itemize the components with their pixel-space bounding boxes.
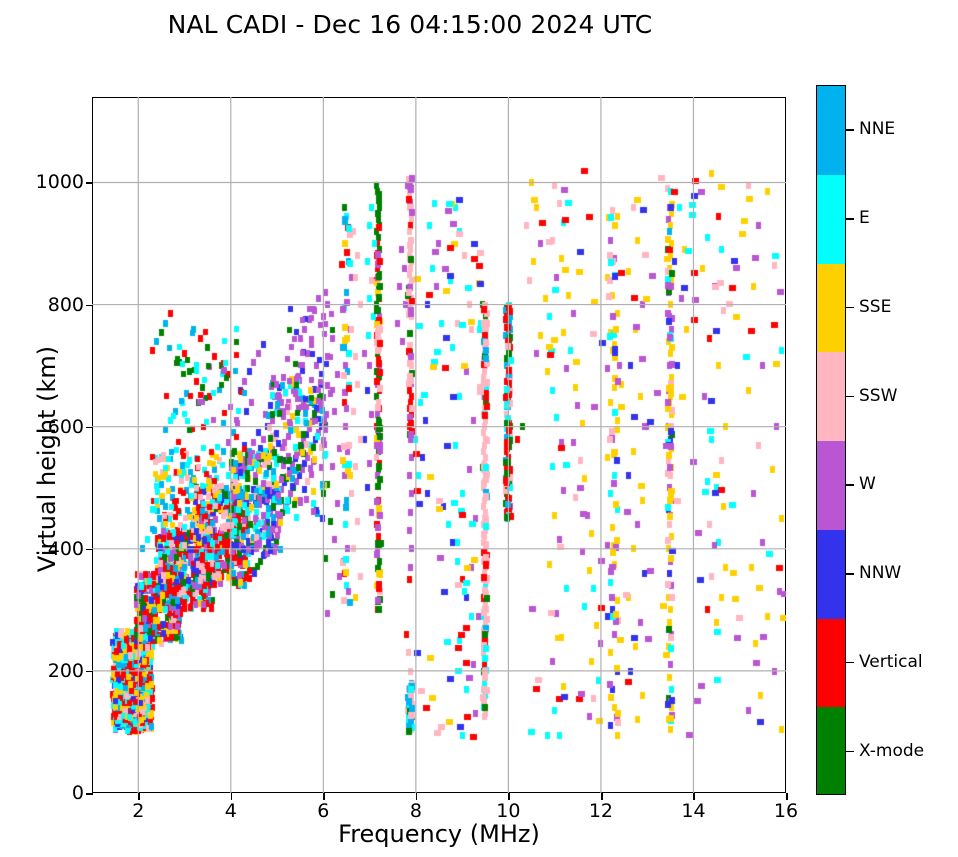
page-title: NAL CADI - Dec 16 04:15:00 2024 UTC (0, 10, 820, 39)
x-tick-mark (138, 793, 140, 800)
y-tick-mark (86, 793, 93, 795)
colorbar-tick-mark (846, 129, 854, 131)
x-tick-label-16: 16 (756, 800, 816, 822)
x-tick-label-4: 4 (201, 800, 261, 822)
colorbar-band-sse (817, 264, 845, 353)
x-tick-label-10: 10 (478, 800, 538, 822)
colorbar-tick-mark (846, 396, 854, 398)
colorbar-tick-mark (846, 218, 854, 220)
x-tick-label-2: 2 (108, 800, 168, 822)
x-tick-mark (693, 793, 695, 800)
x-tick-mark (323, 793, 325, 800)
ionogram-figure: NAL CADI - Dec 16 04:15:00 2024 UTC 0200… (0, 0, 958, 857)
colorbar-band-x-mode (817, 707, 845, 795)
colorbar-band-e (817, 175, 845, 264)
colorbar-band-w (817, 441, 845, 530)
x-tick-label-6: 6 (293, 800, 353, 822)
x-tick-mark (786, 793, 788, 800)
y-tick-label-1000: 1000 (28, 171, 84, 193)
colorbar-label-vertical: Vertical (859, 652, 923, 672)
scatter-data-layer (92, 97, 786, 793)
colorbar-label-x-mode: X-mode (859, 741, 924, 761)
colorbar-tick-mark (846, 662, 854, 664)
x-tick-label-8: 8 (386, 800, 446, 822)
colorbar-tick-labels: NNEESSESSWWNNWVerticalX-mode (846, 85, 956, 795)
colorbar-tick-mark (846, 307, 854, 309)
x-tick-mark (231, 793, 233, 800)
colorbar-tick-mark (846, 484, 854, 486)
colorbar-tick-mark (846, 751, 854, 753)
x-tick-mark (601, 793, 603, 800)
colorbar-label-sse: SSE (859, 297, 891, 317)
y-axis-label: Virtual height (km) (33, 219, 61, 699)
colorbar-band-ssw (817, 352, 845, 441)
y-tick-mark (86, 305, 93, 307)
colorbar-label-w: W (859, 474, 876, 494)
colorbar-tick-mark (846, 573, 854, 575)
colorbar-band-vertical (817, 619, 845, 708)
x-tick-label-14: 14 (663, 800, 723, 822)
x-tick-mark (416, 793, 418, 800)
colorbar-band-nne (817, 86, 845, 175)
y-tick-mark (86, 182, 93, 184)
x-axis-label: Frequency (MHz) (92, 820, 786, 848)
colorbar-label-nnw: NNW (859, 563, 901, 583)
colorbar-label-e: E (859, 208, 870, 228)
x-tick-mark (508, 793, 510, 800)
y-tick-mark (86, 671, 93, 673)
colorbar-label-nne: NNE (859, 119, 895, 139)
y-tick-mark (86, 427, 93, 429)
y-tick-mark (86, 549, 93, 551)
colorbar-band-nnw (817, 530, 845, 619)
colorbar-label-ssw: SSW (859, 386, 897, 406)
azimuth-colorbar (816, 85, 846, 795)
x-tick-label-12: 12 (571, 800, 631, 822)
